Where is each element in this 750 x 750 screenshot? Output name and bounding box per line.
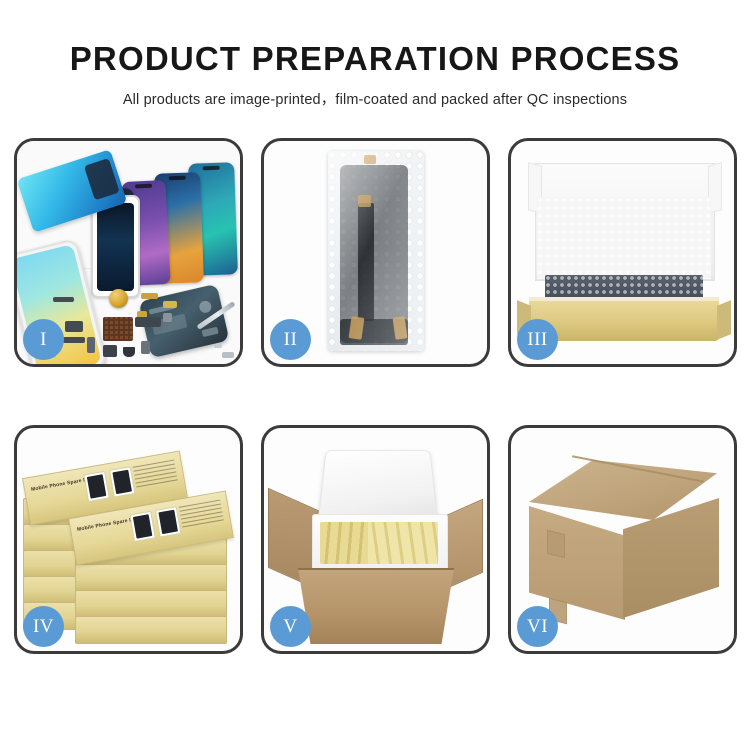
- spare-part: [141, 341, 150, 354]
- spare-part: [214, 344, 222, 348]
- step-badge-4: IV: [23, 606, 64, 647]
- spare-part: [53, 297, 74, 302]
- circuit-chip-part: [103, 317, 133, 341]
- page-subtitle: All products are image-printed，film-coat…: [0, 77, 750, 109]
- page-title: PRODUCT PREPARATION PROCESS: [0, 0, 750, 77]
- stacked-box: [75, 590, 227, 618]
- spare-part: [103, 345, 117, 357]
- process-step-panel-1: I: [14, 138, 243, 367]
- styrofoam-lid: [318, 450, 439, 521]
- step-badge-6: VI: [517, 606, 558, 647]
- phone-notch-icon: [169, 176, 186, 181]
- page-header: PRODUCT PREPARATION PROCESS All products…: [0, 0, 750, 109]
- step-badge-2: II: [270, 319, 311, 360]
- box-spec-lines: [133, 460, 180, 497]
- process-step-panel-2: II: [261, 138, 490, 367]
- spare-part: [63, 337, 85, 343]
- box-window-graphic: [109, 466, 136, 497]
- step-badge-3: III: [517, 319, 558, 360]
- outer-carton-open: [298, 568, 454, 644]
- spare-part: [65, 321, 83, 332]
- phone-graphic: [158, 510, 178, 534]
- gold-speaker-part: [109, 289, 128, 308]
- carton-tape-patch: [547, 530, 565, 558]
- box-spec-lines: [179, 500, 226, 537]
- housing-camera-icon: [198, 300, 212, 314]
- spare-part: [222, 352, 234, 358]
- process-step-panel-4: Mobile Phone Spare Parts Mobile Phone Sp…: [14, 425, 243, 654]
- process-steps-grid: I II III: [14, 138, 736, 654]
- stacked-box: [75, 616, 227, 644]
- step-badge-5: V: [270, 606, 311, 647]
- carton-front-face: [529, 506, 625, 620]
- spare-part: [163, 313, 172, 322]
- yellow-boxes-inside: [320, 522, 438, 564]
- step-badge-1: I: [23, 319, 64, 360]
- housing-detail: [202, 327, 219, 337]
- stacked-box: [75, 564, 227, 592]
- spare-part: [135, 317, 161, 327]
- phone-graphic: [87, 474, 107, 498]
- process-step-panel-5: V: [261, 425, 490, 654]
- white-foam-lining: [537, 197, 711, 279]
- process-step-panel-3: III: [508, 138, 737, 367]
- phone-notch-icon: [203, 166, 220, 171]
- process-step-panel-6: VI: [508, 425, 737, 654]
- phone-graphic: [112, 470, 132, 494]
- box-window-graphic: [83, 471, 110, 502]
- box-window-graphic: [155, 506, 182, 537]
- spare-part: [87, 337, 95, 353]
- phone-notch-icon: [135, 184, 152, 189]
- spare-part: [141, 293, 158, 299]
- bubble-wrap-bag: [328, 151, 424, 351]
- phone-graphic: [133, 514, 153, 538]
- box-window-graphic: [129, 511, 156, 542]
- spare-part: [123, 347, 135, 357]
- spare-part: [163, 301, 177, 308]
- bubble-wrap-sheen: [328, 151, 424, 351]
